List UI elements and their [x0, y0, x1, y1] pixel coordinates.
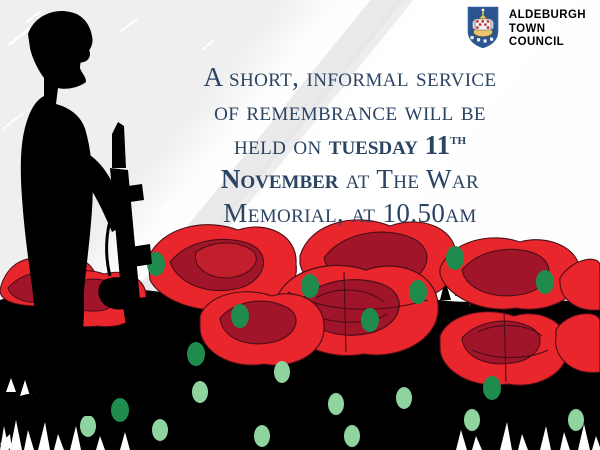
- headline-line-1: A short, informal service: [130, 60, 570, 94]
- council-name-text: ALDEBURGH TOWN COUNCIL: [509, 5, 586, 50]
- headline-line-3-pre: held on: [234, 130, 329, 160]
- council-logo: ALDEBURGH TOWN COUNCIL: [466, 5, 586, 50]
- council-line-2: TOWN: [509, 23, 586, 37]
- headline-line-5: Memorial, at 10.50am: [130, 196, 570, 230]
- council-line-1: ALDEBURGH: [509, 9, 586, 23]
- headline-ordinal-suffix: th: [450, 130, 466, 160]
- headline-line-4-bold: November: [221, 164, 339, 194]
- headline-line-3: held on tuesday 11th: [130, 128, 570, 162]
- headline-line-2: of remembrance will be: [130, 94, 570, 128]
- headline-line-4: November at The War: [130, 162, 570, 196]
- headline-ordinal-sup: th: [450, 131, 466, 148]
- headline-line-4-post: at The War: [339, 164, 480, 194]
- headline-text: A short, informal service of remembrance…: [130, 60, 570, 230]
- headline-line-3-bold: tuesday 11: [329, 130, 450, 160]
- council-line-3: COUNCIL: [509, 36, 586, 50]
- remembrance-poster: ALDEBURGH TOWN COUNCIL A short, informal…: [0, 0, 600, 450]
- aldeburgh-crest-icon: [466, 5, 500, 50]
